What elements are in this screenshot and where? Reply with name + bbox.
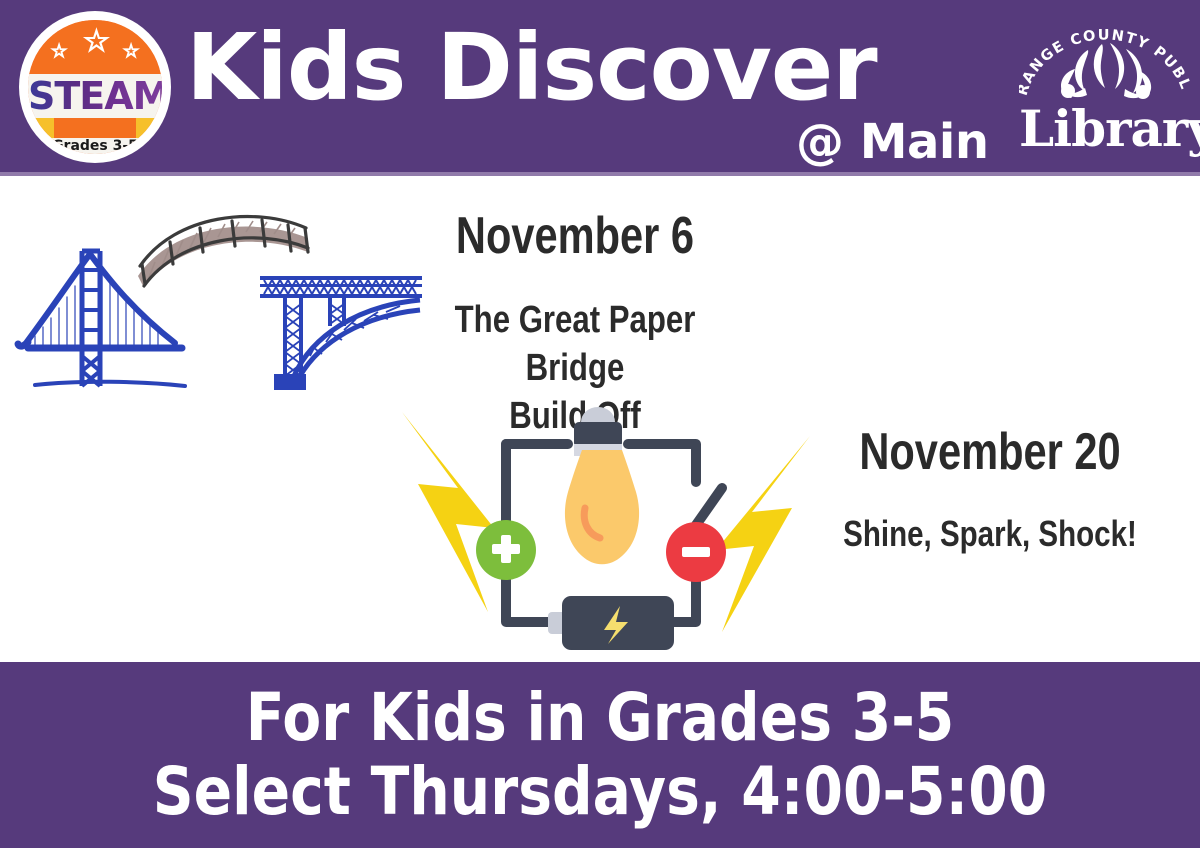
session-2-date: November 20 bbox=[854, 424, 1126, 480]
minus-terminal-shape bbox=[666, 522, 726, 582]
badge-orange-midblock bbox=[54, 118, 136, 140]
lightning-bolt-left-shape bbox=[402, 412, 494, 612]
footer-schedule-line: Select Thursdays, 4:00-5:00 bbox=[84, 754, 1116, 830]
page-title: Kids Discover bbox=[186, 16, 877, 120]
logo-wordmark: Library bbox=[1019, 102, 1191, 156]
circuit-illustration bbox=[396, 400, 816, 662]
steam-badge-grades-label: Grades 3-5 bbox=[28, 138, 162, 154]
light-bulb-shape bbox=[565, 407, 639, 564]
footer-audience-line: For Kids in Grades 3-5 bbox=[84, 680, 1116, 756]
steam-badge: ☆ ☆ ☆ STEAM Grades 3-5 bbox=[19, 11, 171, 163]
star-icon-right: ☆ bbox=[123, 42, 139, 60]
lightning-bolt-right-shape bbox=[716, 436, 810, 632]
library-logo: ORANGE COUNTY PUBLIC bbox=[1019, 18, 1191, 160]
header-band: ☆ ☆ ☆ STEAM Grades 3-5 Kids Discover @ M… bbox=[0, 0, 1200, 176]
content-area: November 6 The Great Paper Bridge Build … bbox=[0, 176, 1200, 662]
star-icon-left: ☆ bbox=[51, 42, 67, 60]
star-icon-large: ☆ bbox=[83, 27, 110, 57]
session-2-description: Shine, Spark, Shock! bbox=[842, 512, 1137, 556]
battery-shape bbox=[548, 596, 674, 650]
session-1-date: November 6 bbox=[435, 208, 715, 264]
truss-viaduct-bridge-icon bbox=[252, 264, 422, 392]
flyer-poster: ☆ ☆ ☆ STEAM Grades 3-5 Kids Discover @ M… bbox=[0, 0, 1200, 848]
page-subtitle-location: @ Main bbox=[796, 116, 989, 168]
footer-band: For Kids in Grades 3-5 Select Thursdays,… bbox=[0, 662, 1200, 848]
steam-badge-program-label: STEAM bbox=[28, 73, 162, 119]
steam-badge-inner: ☆ ☆ ☆ STEAM Grades 3-5 bbox=[28, 20, 162, 154]
plus-terminal-shape bbox=[476, 520, 536, 580]
fountain-flourish-icon bbox=[1055, 40, 1155, 102]
session-1-description-line-1: The Great Paper Bridge bbox=[415, 296, 735, 392]
